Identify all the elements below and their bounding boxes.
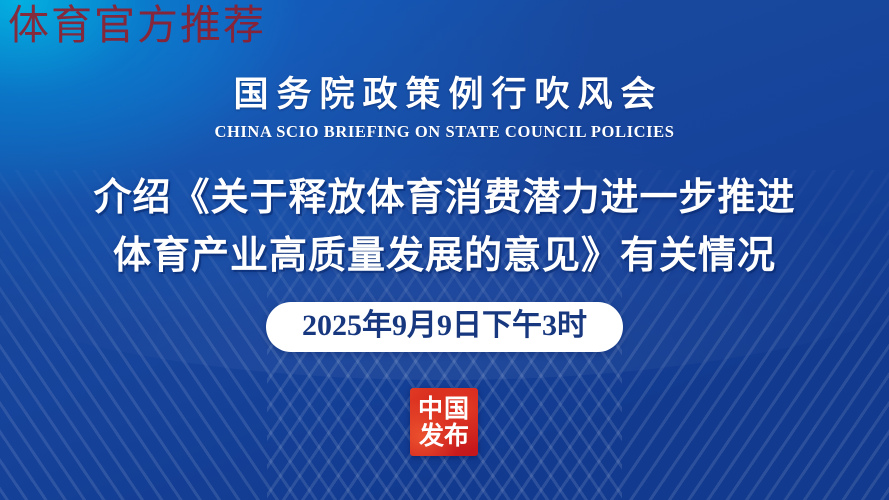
logo-line-1: 中国: [418, 395, 470, 422]
logo-line-2: 发布: [419, 422, 469, 449]
briefing-poster: 体育官方推荐 国务院政策例行吹风会 CHINA SCIO BRIEFING ON…: [0, 0, 889, 500]
headline-block: 介绍《关于释放体育消费潜力进一步推进 体育产业高质量发展的意见》有关情况: [93, 168, 795, 284]
china-release-logo: 中国 发布: [410, 388, 478, 456]
brand-title-chinese: 国务院政策例行吹风会: [225, 76, 663, 115]
watermark-text: 体育官方推荐: [8, 2, 266, 49]
date-time-pill: 2025年9月9日下午3时: [266, 302, 623, 352]
date-time-text: 2025年9月9日下午3时: [302, 309, 587, 342]
headline-line-1: 介绍《关于释放体育消费潜力进一步推进: [93, 168, 795, 226]
headline-line-2: 体育产业高质量发展的意见》有关情况: [93, 226, 795, 284]
brand-title-english: CHINA SCIO BRIEFING ON STATE COUNCIL POL…: [214, 122, 674, 142]
